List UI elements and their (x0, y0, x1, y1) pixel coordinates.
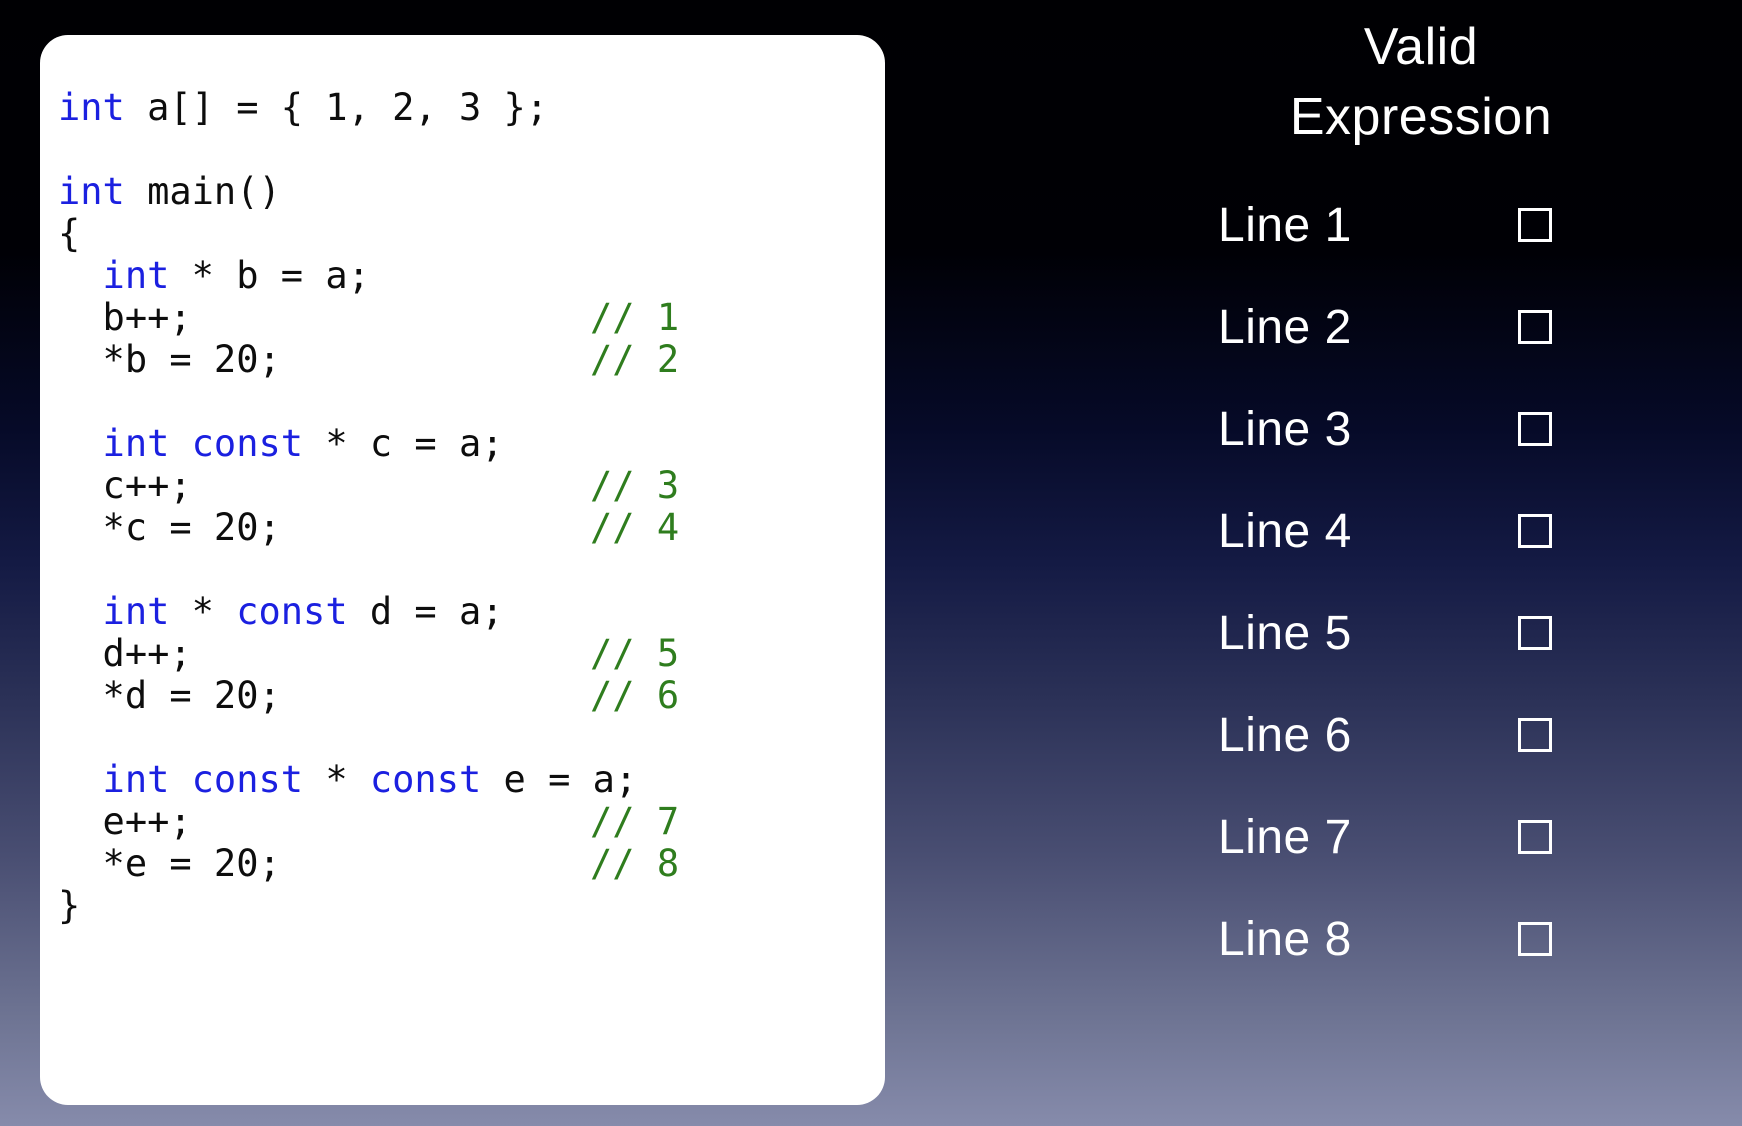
line-d-assign: *d = 20;// 6 (58, 675, 885, 717)
code-comment: // 2 (590, 339, 679, 381)
code-text: main() (125, 170, 281, 213)
checklist-row-label-5: Line 5 (1218, 604, 1352, 664)
code-card: int a[] = { 1, 2, 3 };int main(){ int * … (40, 35, 885, 1105)
code-text: *c = 20; (58, 506, 281, 549)
line-b-assign: *b = 20;// 2 (58, 339, 885, 381)
code-keyword: const (236, 590, 347, 633)
code-comment: // 8 (590, 843, 679, 885)
code-keyword: int (58, 86, 125, 129)
line-blank-2 (58, 381, 885, 423)
code-text: d++; (58, 632, 192, 675)
line-decl-a: int a[] = { 1, 2, 3 }; (58, 87, 885, 129)
checkbox-icon-line-8[interactable] (1518, 922, 1552, 956)
line-c-assign: *c = 20;// 4 (58, 507, 885, 549)
code-keyword: const (370, 758, 481, 801)
line-close-brace: } (58, 885, 885, 927)
checklist-row-label-6: Line 6 (1218, 706, 1352, 766)
code-text: c++; (58, 464, 192, 507)
panel-title: Valid Expression (1100, 12, 1742, 152)
code-keyword: int const (58, 758, 303, 801)
line-decl-b: int * b = a; (58, 255, 885, 297)
code-listing: int a[] = { 1, 2, 3 };int main(){ int * … (58, 87, 885, 927)
line-b-incr: b++;// 1 (58, 297, 885, 339)
line-decl-e: int const * const e = a; (58, 759, 885, 801)
line-open-brace: { (58, 213, 885, 255)
checklist-row-label-7: Line 7 (1218, 808, 1352, 868)
checklist-row-3[interactable]: Line 3 (1100, 400, 1742, 460)
checkbox-icon-line-1[interactable] (1518, 208, 1552, 242)
checkbox-icon-line-4[interactable] (1518, 514, 1552, 548)
code-text: *d = 20; (58, 674, 281, 717)
line-e-assign: *e = 20;// 8 (58, 843, 885, 885)
code-text: a[] = { 1, 2, 3 }; (125, 86, 548, 129)
line-decl-d: int * const d = a; (58, 591, 885, 633)
code-text: } (58, 884, 80, 927)
line-decl-c: int const * c = a; (58, 423, 885, 465)
line-blank-4 (58, 717, 885, 759)
checklist-row-6[interactable]: Line 6 (1100, 706, 1742, 766)
line-c-incr: c++;// 3 (58, 465, 885, 507)
checklist-row-2[interactable]: Line 2 (1100, 298, 1742, 358)
code-comment: // 3 (590, 465, 679, 507)
panel-title-line2: Expression (1100, 82, 1742, 152)
checklist-row-label-2: Line 2 (1218, 298, 1352, 358)
checklist-row-label-3: Line 3 (1218, 400, 1352, 460)
code-text: e = a; (481, 758, 637, 801)
code-comment: // 5 (590, 633, 679, 675)
code-comment: // 6 (590, 675, 679, 717)
code-keyword: int const (58, 422, 303, 465)
code-comment: // 7 (590, 801, 679, 843)
valid-expression-panel: Valid Expression Line 1Line 2Line 3Line … (1100, 0, 1742, 1126)
checklist-row-4[interactable]: Line 4 (1100, 502, 1742, 562)
code-keyword: int (58, 254, 169, 297)
checklist-row-8[interactable]: Line 8 (1100, 910, 1742, 970)
code-comment: // 4 (590, 507, 679, 549)
panel-title-line1: Valid (1364, 18, 1478, 76)
code-keyword: int (58, 170, 125, 213)
slide-root: int a[] = { 1, 2, 3 };int main(){ int * … (0, 0, 1742, 1126)
code-text: e++; (58, 800, 192, 843)
line-main: int main() (58, 171, 885, 213)
checkbox-icon-line-7[interactable] (1518, 820, 1552, 854)
checklist-row-label-1: Line 1 (1218, 196, 1352, 256)
code-text: * (303, 758, 370, 801)
checklist-row-1[interactable]: Line 1 (1100, 196, 1742, 256)
line-blank-1 (58, 129, 885, 171)
checklist-row-5[interactable]: Line 5 (1100, 604, 1742, 664)
code-text: * b = a; (169, 254, 369, 297)
checkbox-icon-line-6[interactable] (1518, 718, 1552, 752)
code-text: { (58, 212, 80, 255)
line-d-incr: d++;// 5 (58, 633, 885, 675)
checklist-row-label-4: Line 4 (1218, 502, 1352, 562)
code-text: b++; (58, 296, 192, 339)
line-blank-3 (58, 549, 885, 591)
checkbox-icon-line-2[interactable] (1518, 310, 1552, 344)
code-text: *e = 20; (58, 842, 281, 885)
checkbox-icon-line-3[interactable] (1518, 412, 1552, 446)
checklist-row-label-8: Line 8 (1218, 910, 1352, 970)
line-e-incr: e++;// 7 (58, 801, 885, 843)
checkbox-icon-line-5[interactable] (1518, 616, 1552, 650)
code-text: *b = 20; (58, 338, 281, 381)
code-text: * c = a; (303, 422, 503, 465)
code-keyword: int (58, 590, 169, 633)
code-text: d = a; (348, 590, 504, 633)
code-comment: // 1 (590, 297, 679, 339)
checklist-row-7[interactable]: Line 7 (1100, 808, 1742, 868)
code-text: * (169, 590, 236, 633)
